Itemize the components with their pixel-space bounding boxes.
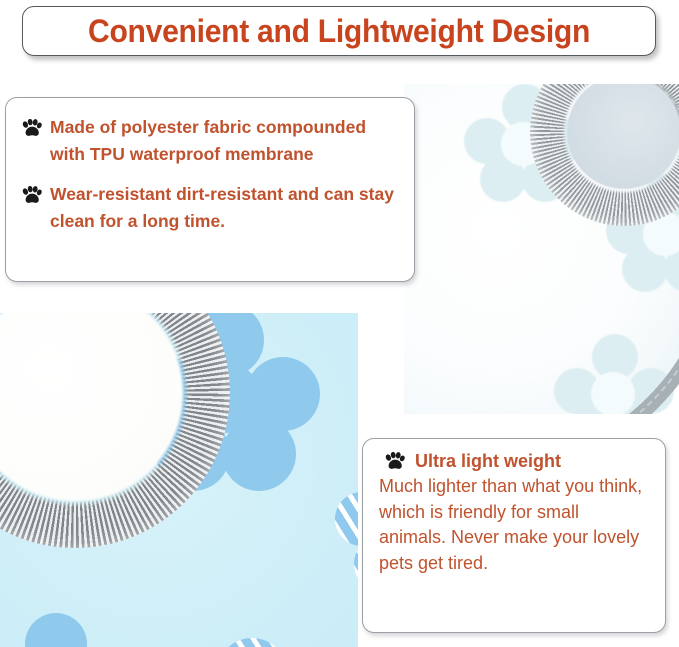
feature-text: Wear-resistant dirt-resistant and can st… — [50, 181, 400, 234]
paw-print-icon — [22, 186, 42, 205]
feature-text: Made of polyester fabric compounded with… — [50, 114, 400, 167]
feature-item: Made of polyester fabric compounded with… — [18, 114, 400, 167]
collar-illustration — [404, 84, 679, 414]
feature-item: Wear-resistant dirt-resistant and can st… — [18, 181, 400, 234]
lightweight-heading-row: Ultra light weight — [379, 451, 651, 472]
paw-print-icon — [22, 119, 42, 138]
marketing-image-canvas: Convenient and Lightweight Design Made o… — [0, 0, 679, 647]
paw-print-icon — [385, 452, 405, 471]
collar-closeup-illustration — [0, 313, 358, 647]
features-callout: Made of polyester fabric compounded with… — [5, 97, 415, 282]
page-title: Convenient and Lightweight Design — [88, 13, 590, 50]
lightweight-callout: Ultra light weight Much lighter than wha… — [362, 438, 666, 633]
product-photo-collar-bottom-left — [0, 313, 358, 647]
lightweight-heading: Ultra light weight — [415, 451, 561, 472]
lightweight-body-text: Much lighter than what you think, which … — [379, 474, 651, 576]
title-banner: Convenient and Lightweight Design — [22, 6, 656, 56]
product-photo-collar-top-right — [404, 84, 679, 414]
